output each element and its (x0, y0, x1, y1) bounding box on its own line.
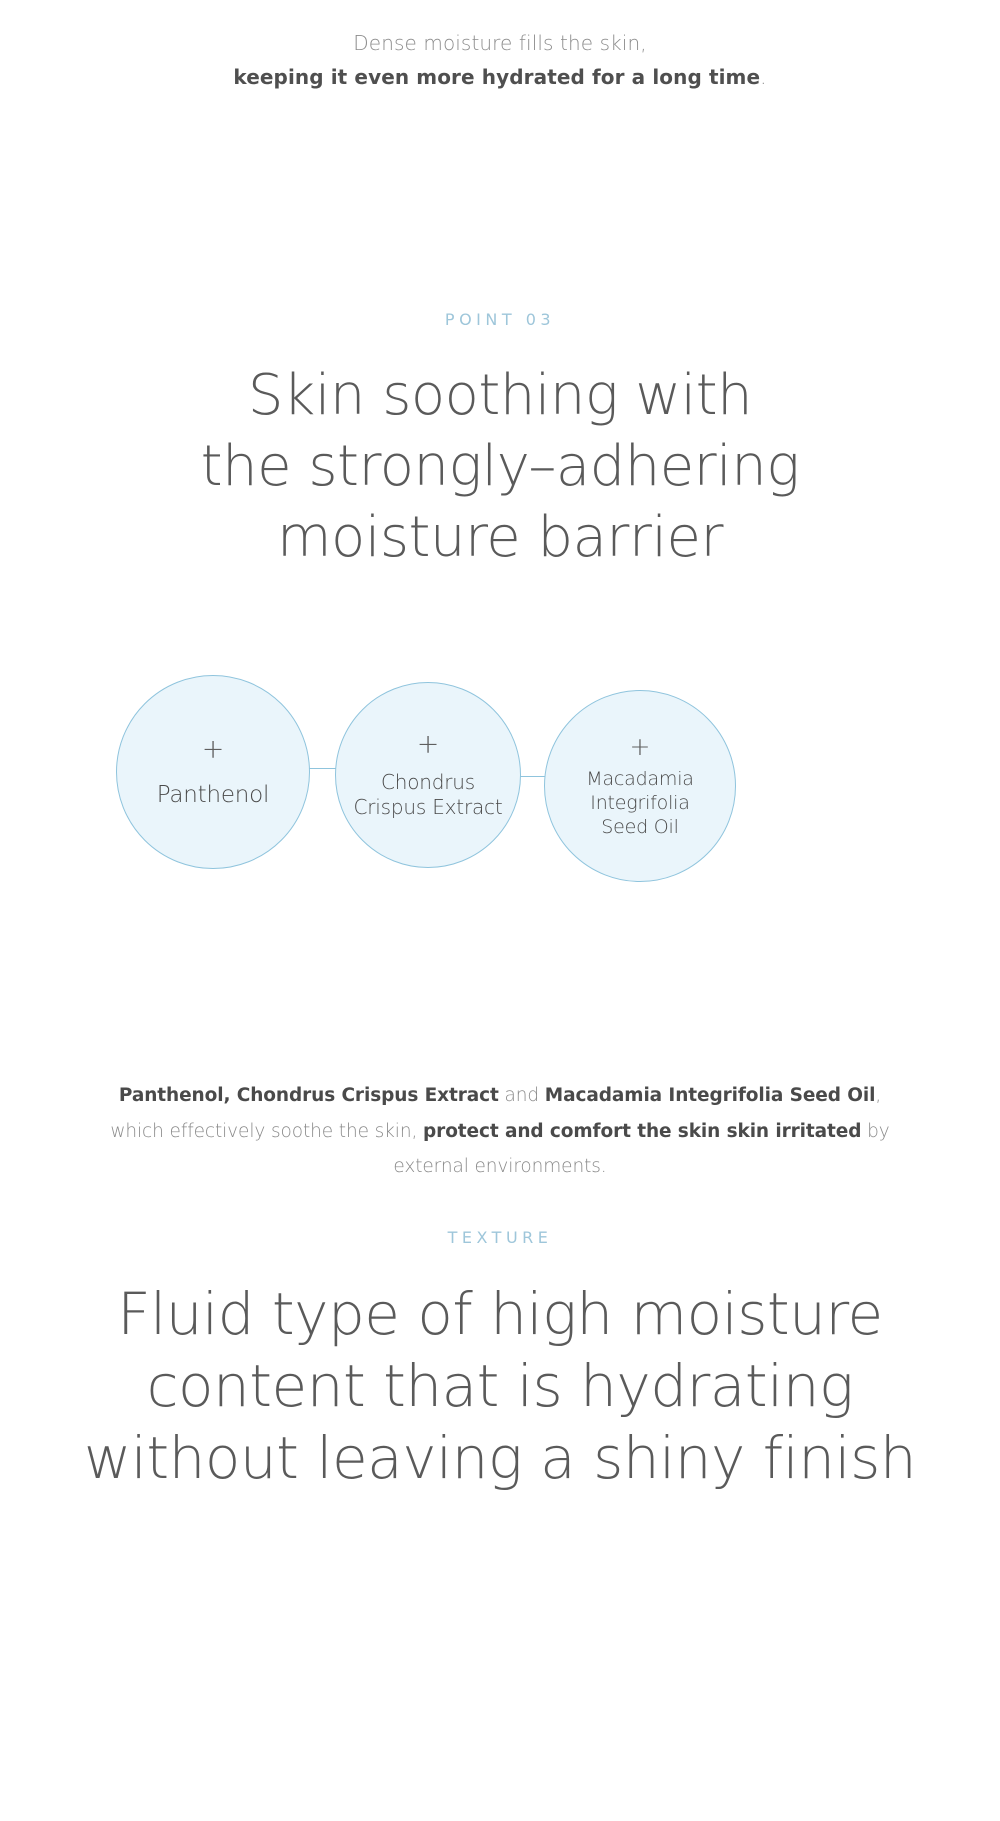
heading-line: moisture barrier (0, 502, 1000, 573)
emphasis-text: protect and comfort the skin skin irrita… (423, 1121, 861, 1142)
ingredient-circle-macadamia-integrifolia-seed-oil: + MacadamiaIntegrifoliaSeed Oil (544, 690, 736, 882)
plus-icon: + (630, 734, 651, 759)
ingredient-label: Panthenol (151, 783, 276, 808)
point-section-description: Panthenol, Chondrus Crispus Extract and … (100, 1078, 900, 1185)
intro-text-block: Dense moisture fills the skin, keeping i… (0, 26, 1000, 94)
emphasis-text: Macadamia Integrifolia Seed Oil (545, 1085, 876, 1106)
ingredient-label: MacadamiaIntegrifoliaSeed Oil (580, 767, 699, 839)
intro-line-2-tail: . (760, 65, 766, 89)
ingredient-circle-group: + Panthenol + ChondrusCrispus Extract + … (0, 668, 1000, 878)
intro-line-1: Dense moisture fills the skin, (0, 26, 1000, 60)
point-section-heading: Skin soothing with the strongly–adhering… (0, 360, 1000, 573)
circle-connector-line (308, 768, 338, 769)
plain-text: and (499, 1085, 545, 1106)
heading-line: Fluid type of high moisture (0, 1278, 1000, 1350)
circle-connector-line (518, 776, 547, 777)
intro-line-2-bold: keeping it even more hydrated for a long… (233, 65, 760, 89)
plus-icon: + (417, 731, 440, 758)
plus-icon: + (202, 736, 225, 763)
point-section-eyebrow: POINT 03 (0, 310, 1000, 329)
texture-section-eyebrow: TEXTURE (0, 1228, 1000, 1247)
heading-line: Skin soothing with (0, 360, 1000, 431)
texture-section-heading: Fluid type of high moisture content that… (0, 1278, 1000, 1494)
ingredient-circle-panthenol: + Panthenol (116, 675, 310, 869)
emphasis-text: Panthenol, Chondrus Crispus Extract (119, 1085, 499, 1106)
ingredient-label: ChondrusCrispus Extract (348, 770, 509, 820)
ingredient-circle-chondrus-crispus-extract: + ChondrusCrispus Extract (335, 682, 521, 868)
intro-line-2: keeping it even more hydrated for a long… (0, 60, 1000, 94)
heading-line: the strongly–adhering (0, 431, 1000, 502)
heading-line: content that is hydrating (0, 1350, 1000, 1422)
heading-line: without leaving a shiny finish (0, 1422, 1000, 1494)
